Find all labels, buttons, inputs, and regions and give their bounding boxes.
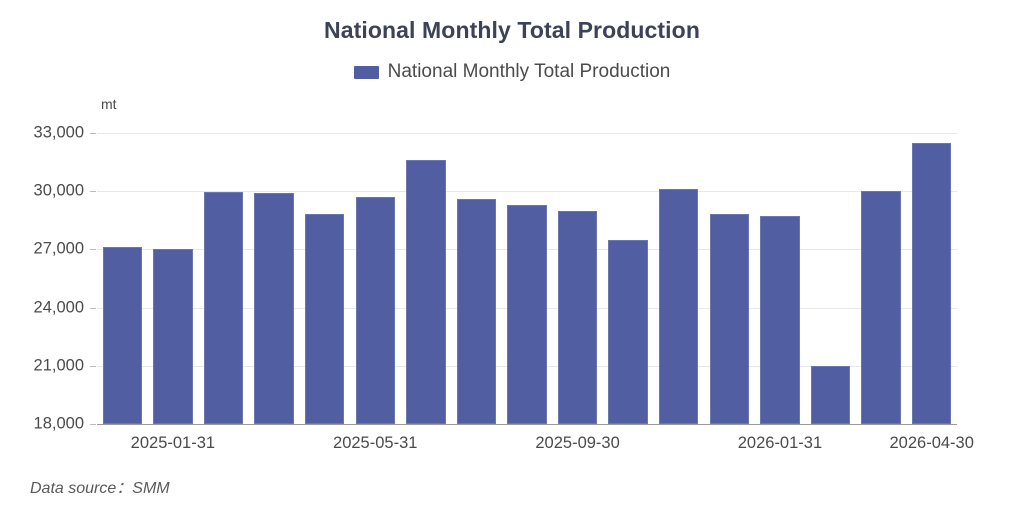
bars-layer: [97, 133, 957, 424]
y-tick-mark: [90, 249, 96, 250]
bar[interactable]: [507, 205, 546, 424]
y-axis-tick-label: 21,000: [34, 356, 84, 375]
legend-item-label: National Monthly Total Production: [388, 61, 671, 83]
y-axis-unit-label: mt: [101, 96, 117, 112]
y-tick-mark: [90, 308, 96, 309]
bar[interactable]: [356, 197, 395, 424]
x-axis-tick-label: 2026-01-31: [738, 434, 822, 453]
y-axis-tick-label: 24,000: [34, 298, 84, 317]
y-axis-tick-label: 33,000: [34, 124, 84, 143]
bar[interactable]: [760, 216, 799, 424]
y-tick-mark: [90, 133, 96, 134]
bar[interactable]: [912, 143, 951, 424]
chart-legend: National Monthly Total Production: [0, 61, 1024, 83]
x-axis-tick-label: 2025-09-30: [535, 434, 619, 453]
plot-area: 18,00021,00024,00027,00030,00033,000 202…: [97, 133, 957, 424]
y-tick-mark: [90, 366, 96, 367]
data-source-note: Data source：SMM: [30, 474, 170, 498]
x-axis-tick-label: 2025-05-31: [333, 434, 417, 453]
chart-container: National Monthly Total Production Nation…: [0, 0, 1024, 510]
bar[interactable]: [204, 192, 243, 424]
legend-swatch-icon: [354, 66, 379, 79]
gridline: [97, 424, 957, 425]
bar[interactable]: [710, 214, 749, 424]
x-axis-tick-label: 2026-04-30: [890, 434, 974, 453]
y-tick-mark: [90, 424, 96, 425]
y-tick-mark: [90, 191, 96, 192]
chart-title: National Monthly Total Production: [0, 17, 1024, 44]
bar[interactable]: [406, 160, 445, 424]
bar[interactable]: [153, 249, 192, 424]
bar[interactable]: [254, 193, 293, 424]
y-axis-tick-label: 30,000: [34, 182, 84, 201]
bar[interactable]: [457, 199, 496, 424]
y-axis-tick-label: 18,000: [34, 415, 84, 434]
bar[interactable]: [608, 240, 647, 424]
y-axis-tick-label: 27,000: [34, 240, 84, 259]
bar[interactable]: [305, 214, 344, 424]
bar[interactable]: [861, 191, 900, 424]
x-axis-tick-label: 2025-01-31: [131, 434, 215, 453]
bar[interactable]: [811, 366, 850, 424]
bar[interactable]: [103, 247, 142, 425]
bar[interactable]: [659, 189, 698, 424]
bar[interactable]: [558, 211, 597, 424]
